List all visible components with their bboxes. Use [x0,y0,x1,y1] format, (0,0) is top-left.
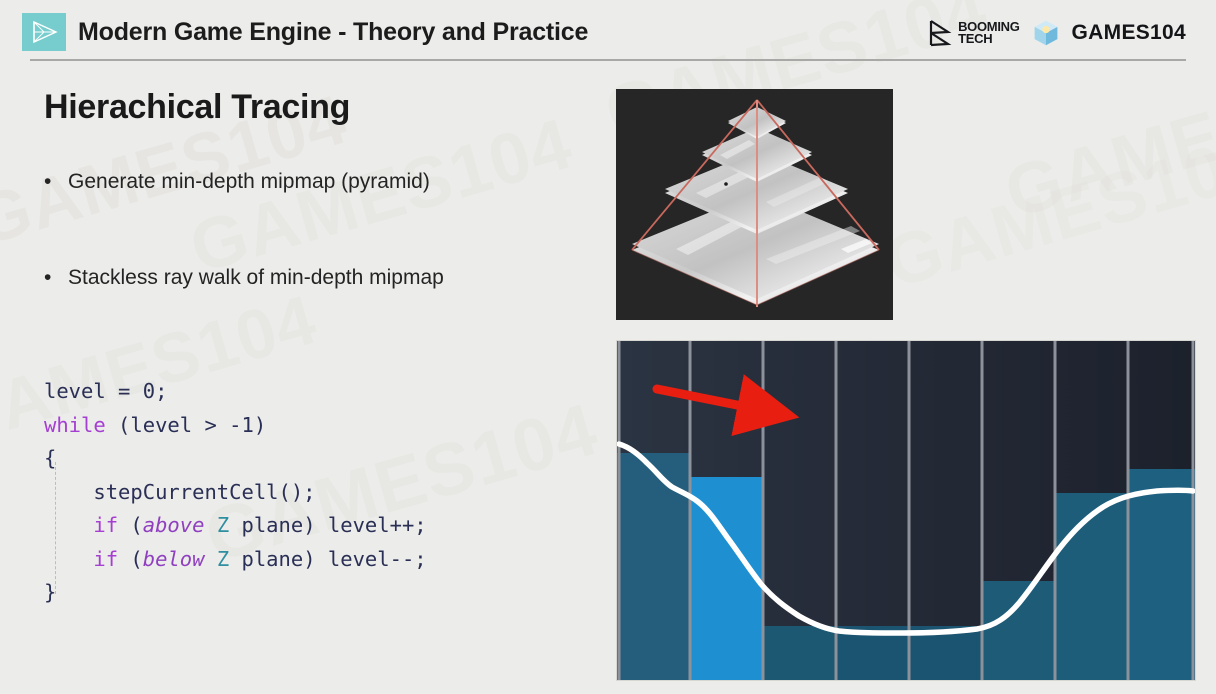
code-token: ( [106,413,131,437]
code-line: if (below Z plane) level--; [44,543,427,577]
games104-wordmark: GAMES104 [1072,21,1186,45]
stackless-ray-walk-figure [616,340,1196,681]
code-token: if [93,513,118,537]
sponsor-logos: BOOMING TECH GAMES104 [928,16,1186,50]
games104-cube-icon [1032,19,1060,47]
code-token: level [44,379,106,403]
slide-root: GAMES104 GAMES104 GAMES104 GAMES104 GAME… [0,0,1216,694]
code-token: Z [217,513,229,537]
code-token: stepCurrentCell [44,480,279,504]
code-token: ; [155,379,167,403]
code-token: (); [279,480,316,504]
code-token: above [143,513,205,537]
code-token: > [192,413,229,437]
code-token: } [44,580,56,604]
header-title: Modern Game Engine - Theory and Practice [78,18,588,47]
bullet-item: • Stackless ray walk of min-depth mipmap [44,266,444,290]
brand-play-icon [22,13,66,51]
code-line: level = 0; [44,375,427,409]
code-token: 0 [143,379,155,403]
code-token: level [130,413,192,437]
bullet-marker: • [44,170,68,193]
bullet-text: Generate min-depth mipmap (pyramid) [68,170,430,194]
watermark: GAMES104 [181,103,581,290]
booming-tech-logo: BOOMING TECH [928,19,1019,47]
page-title: Hierachical Tracing [44,88,350,127]
code-block: level = 0;while (level > -1){ stepCurren… [44,375,427,610]
watermark: GAMES104 [876,118,1216,305]
code-token: ( [118,513,143,537]
code-token: = [106,379,143,403]
code-token: Z [217,547,229,571]
code-token [44,547,93,571]
min-depth-mipmap-pyramid-figure [616,89,893,320]
code-token [204,513,216,537]
slide-header: Modern Game Engine - Theory and Practice… [0,0,1216,60]
booming-logo-line2: TECH [958,33,1019,45]
bullet-text: Stackless ray walk of min-depth mipmap [68,266,444,290]
code-line: if (above Z plane) level++; [44,509,427,543]
bullet-item: • Generate min-depth mipmap (pyramid) [44,170,430,194]
code-token [44,513,93,537]
code-line: while (level > -1) [44,409,427,443]
code-token [204,547,216,571]
code-token: below [143,547,205,571]
booming-b-monogram-icon [928,19,954,47]
code-token: plane) level++; [229,513,426,537]
code-token: ) [254,413,266,437]
code-line: stepCurrentCell(); [44,476,427,510]
code-line: { [44,442,427,476]
header-divider [30,59,1186,61]
watermark: GAMES104 [996,48,1216,235]
code-token: plane) level--; [229,547,426,571]
code-token: { [44,446,56,470]
code-token: ( [118,547,143,571]
code-token: -1 [229,413,254,437]
bullet-marker: • [44,266,68,289]
code-token: while [44,413,106,437]
code-token: if [93,547,118,571]
code-line: } [44,576,427,610]
